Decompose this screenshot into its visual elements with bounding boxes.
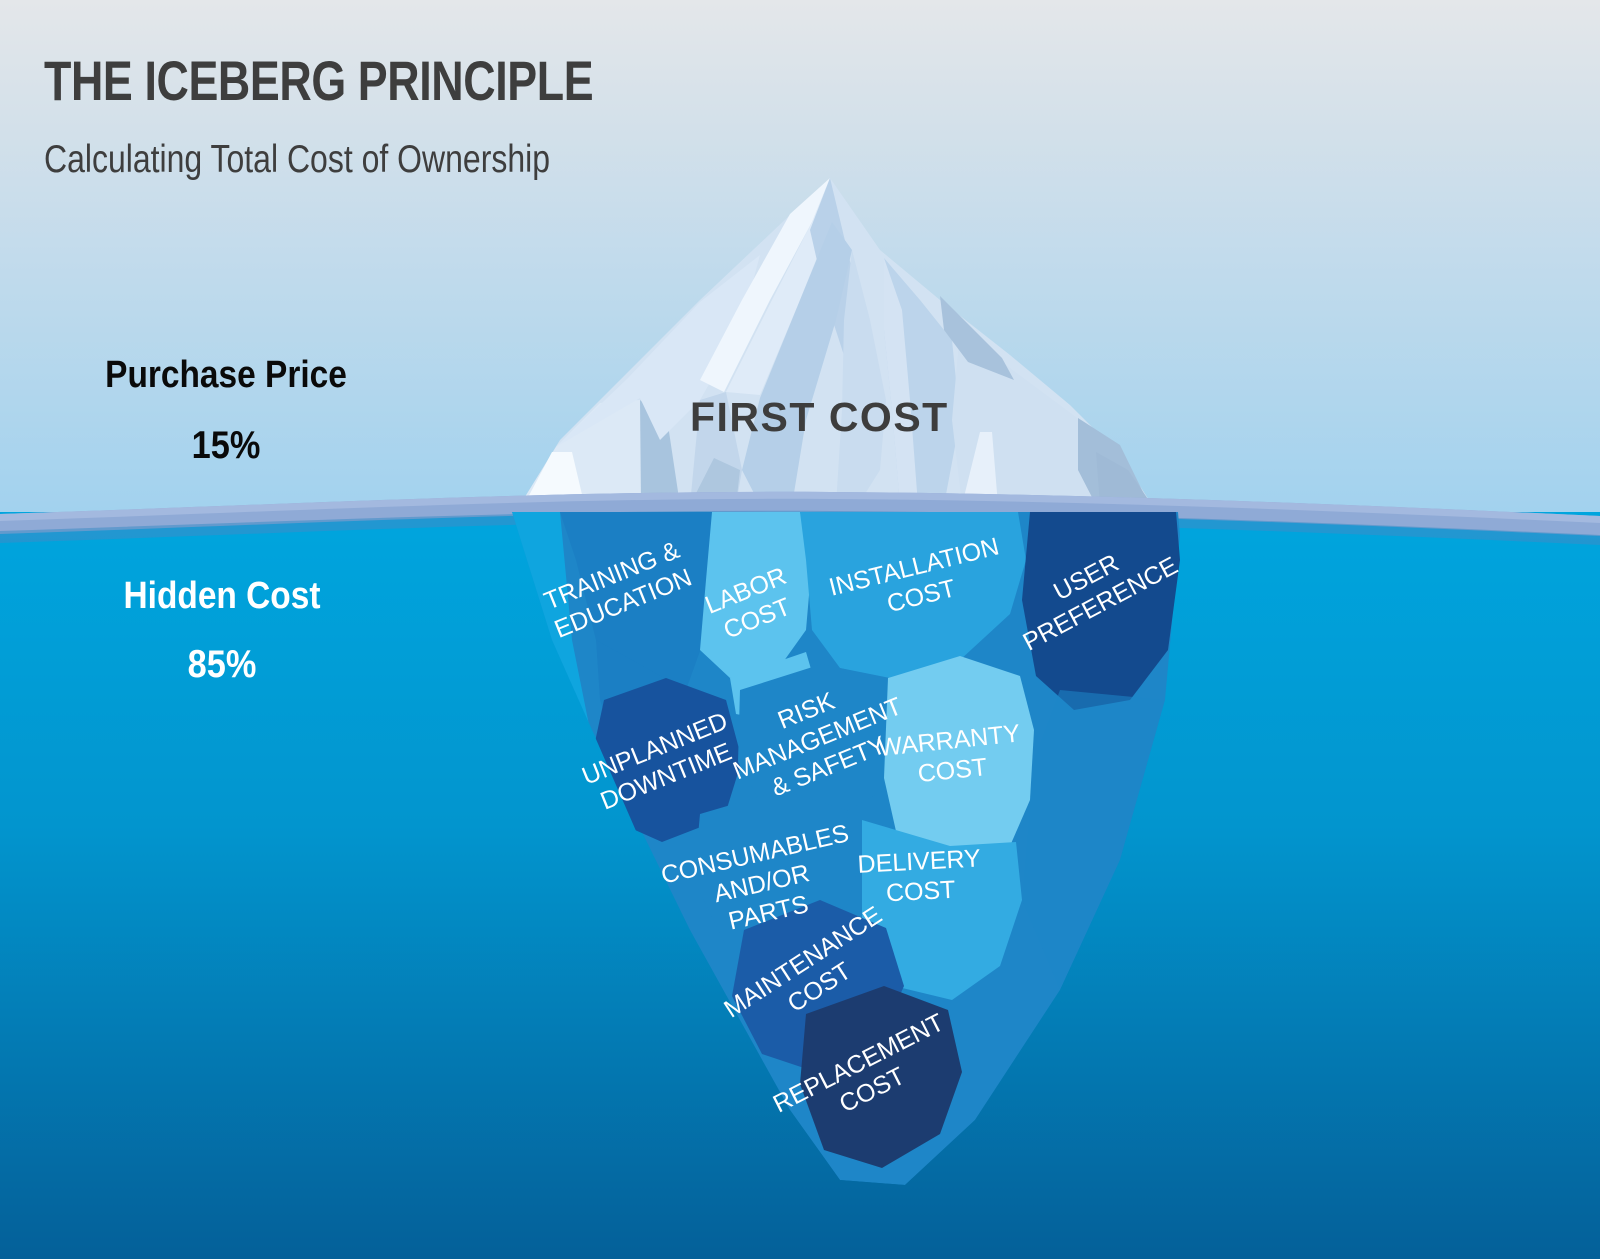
infographic-canvas: TRAINING &EDUCATIONLABORCOSTINSTALLATION… <box>0 0 1600 1259</box>
segment-label-line: COST <box>885 876 956 908</box>
iceberg-illustration: TRAINING &EDUCATIONLABORCOSTINSTALLATION… <box>0 0 1600 1259</box>
